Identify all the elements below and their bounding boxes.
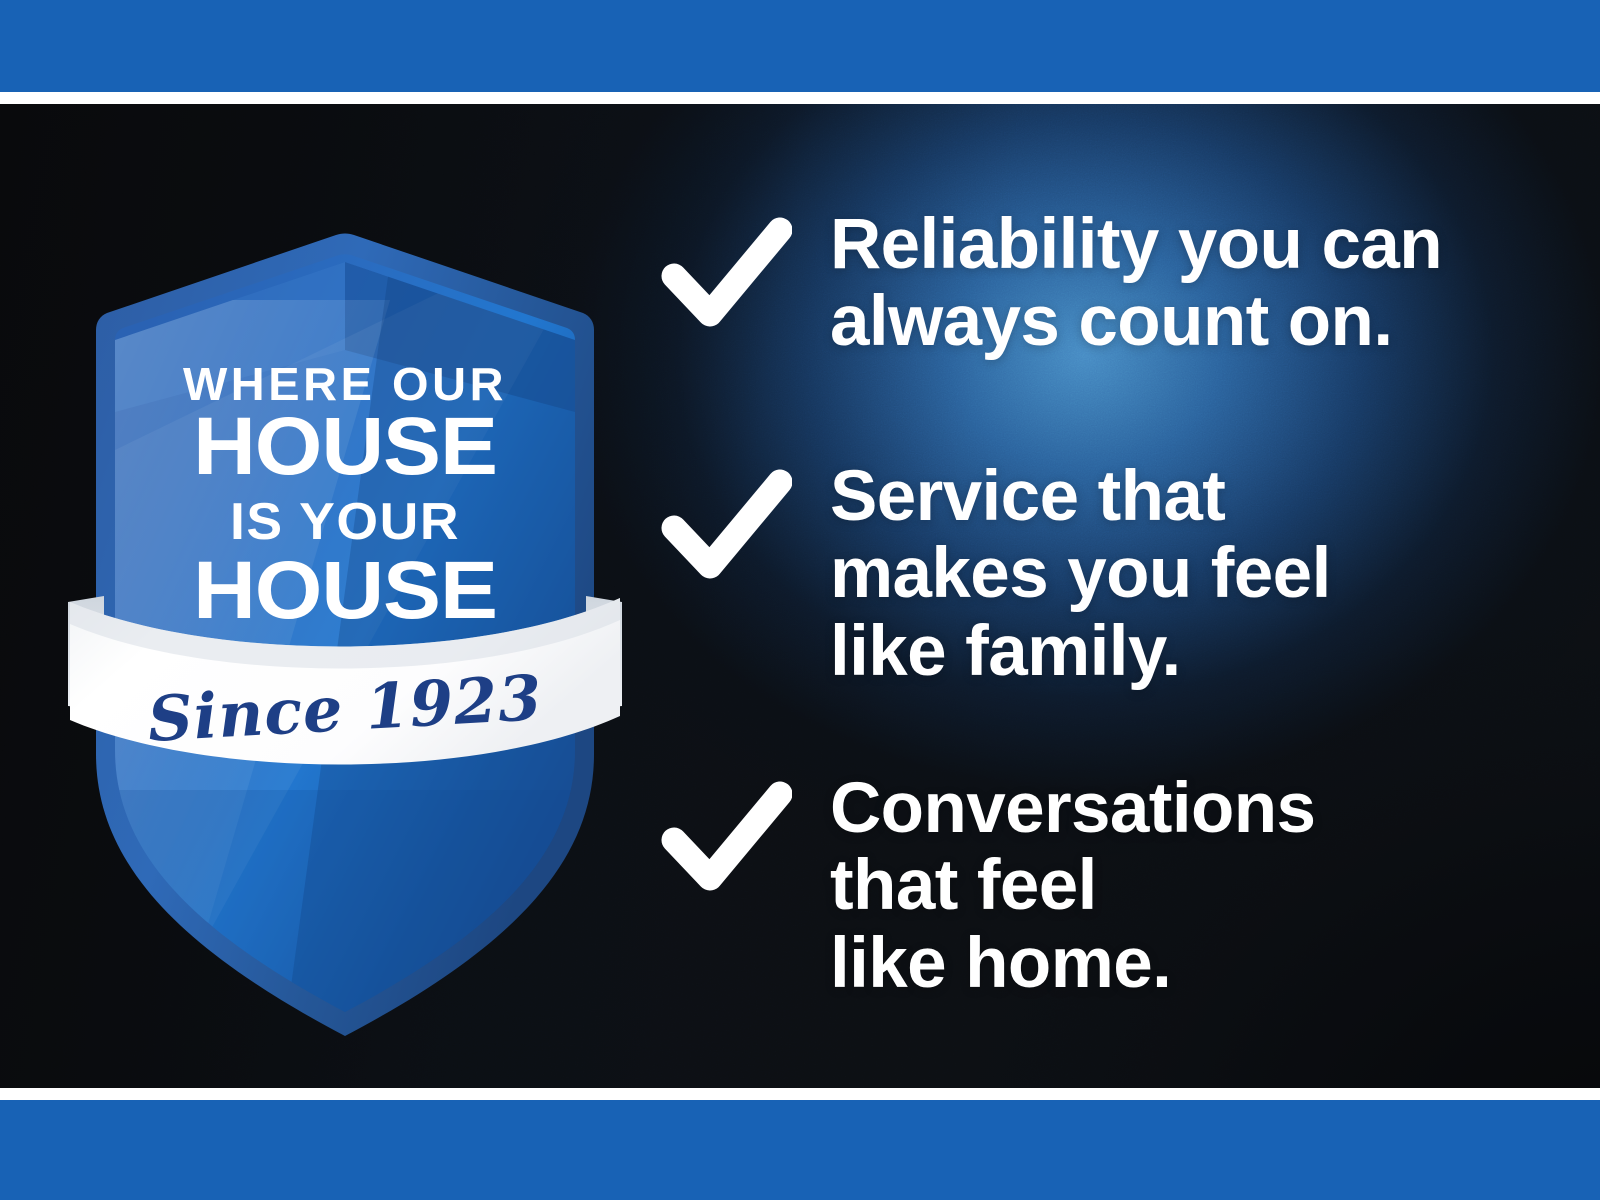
benefit-text-service: Service that makes you feel like family. [830,458,1331,690]
benefits-list: Reliability you can always count on. Ser… [660,104,1560,1088]
brand-bar-top-divider [0,92,1600,104]
checkmark-icon [660,778,792,898]
checkmark-icon [660,466,792,586]
brand-bar-bottom-divider [0,1088,1600,1100]
promo-graphic-canvas: Where Our House Is Your House Since 1923… [0,0,1600,1200]
checkmark-icon [660,214,792,334]
company-shield-badge: Where Our House Is Your House Since 1923 [60,150,630,960]
brand-bar-bottom [0,1100,1600,1200]
benefit-item-service: Service that makes you feel like family. [660,464,1331,690]
benefit-item-conversations: Conversations that feel like home. [660,776,1315,1002]
benefit-text-reliability: Reliability you can always count on. [830,206,1442,361]
shield-graphic [60,150,630,960]
benefit-item-reliability: Reliability you can always count on. [660,212,1442,361]
brand-bar-top [0,0,1600,92]
benefit-text-conversations: Conversations that feel like home. [830,770,1315,1002]
